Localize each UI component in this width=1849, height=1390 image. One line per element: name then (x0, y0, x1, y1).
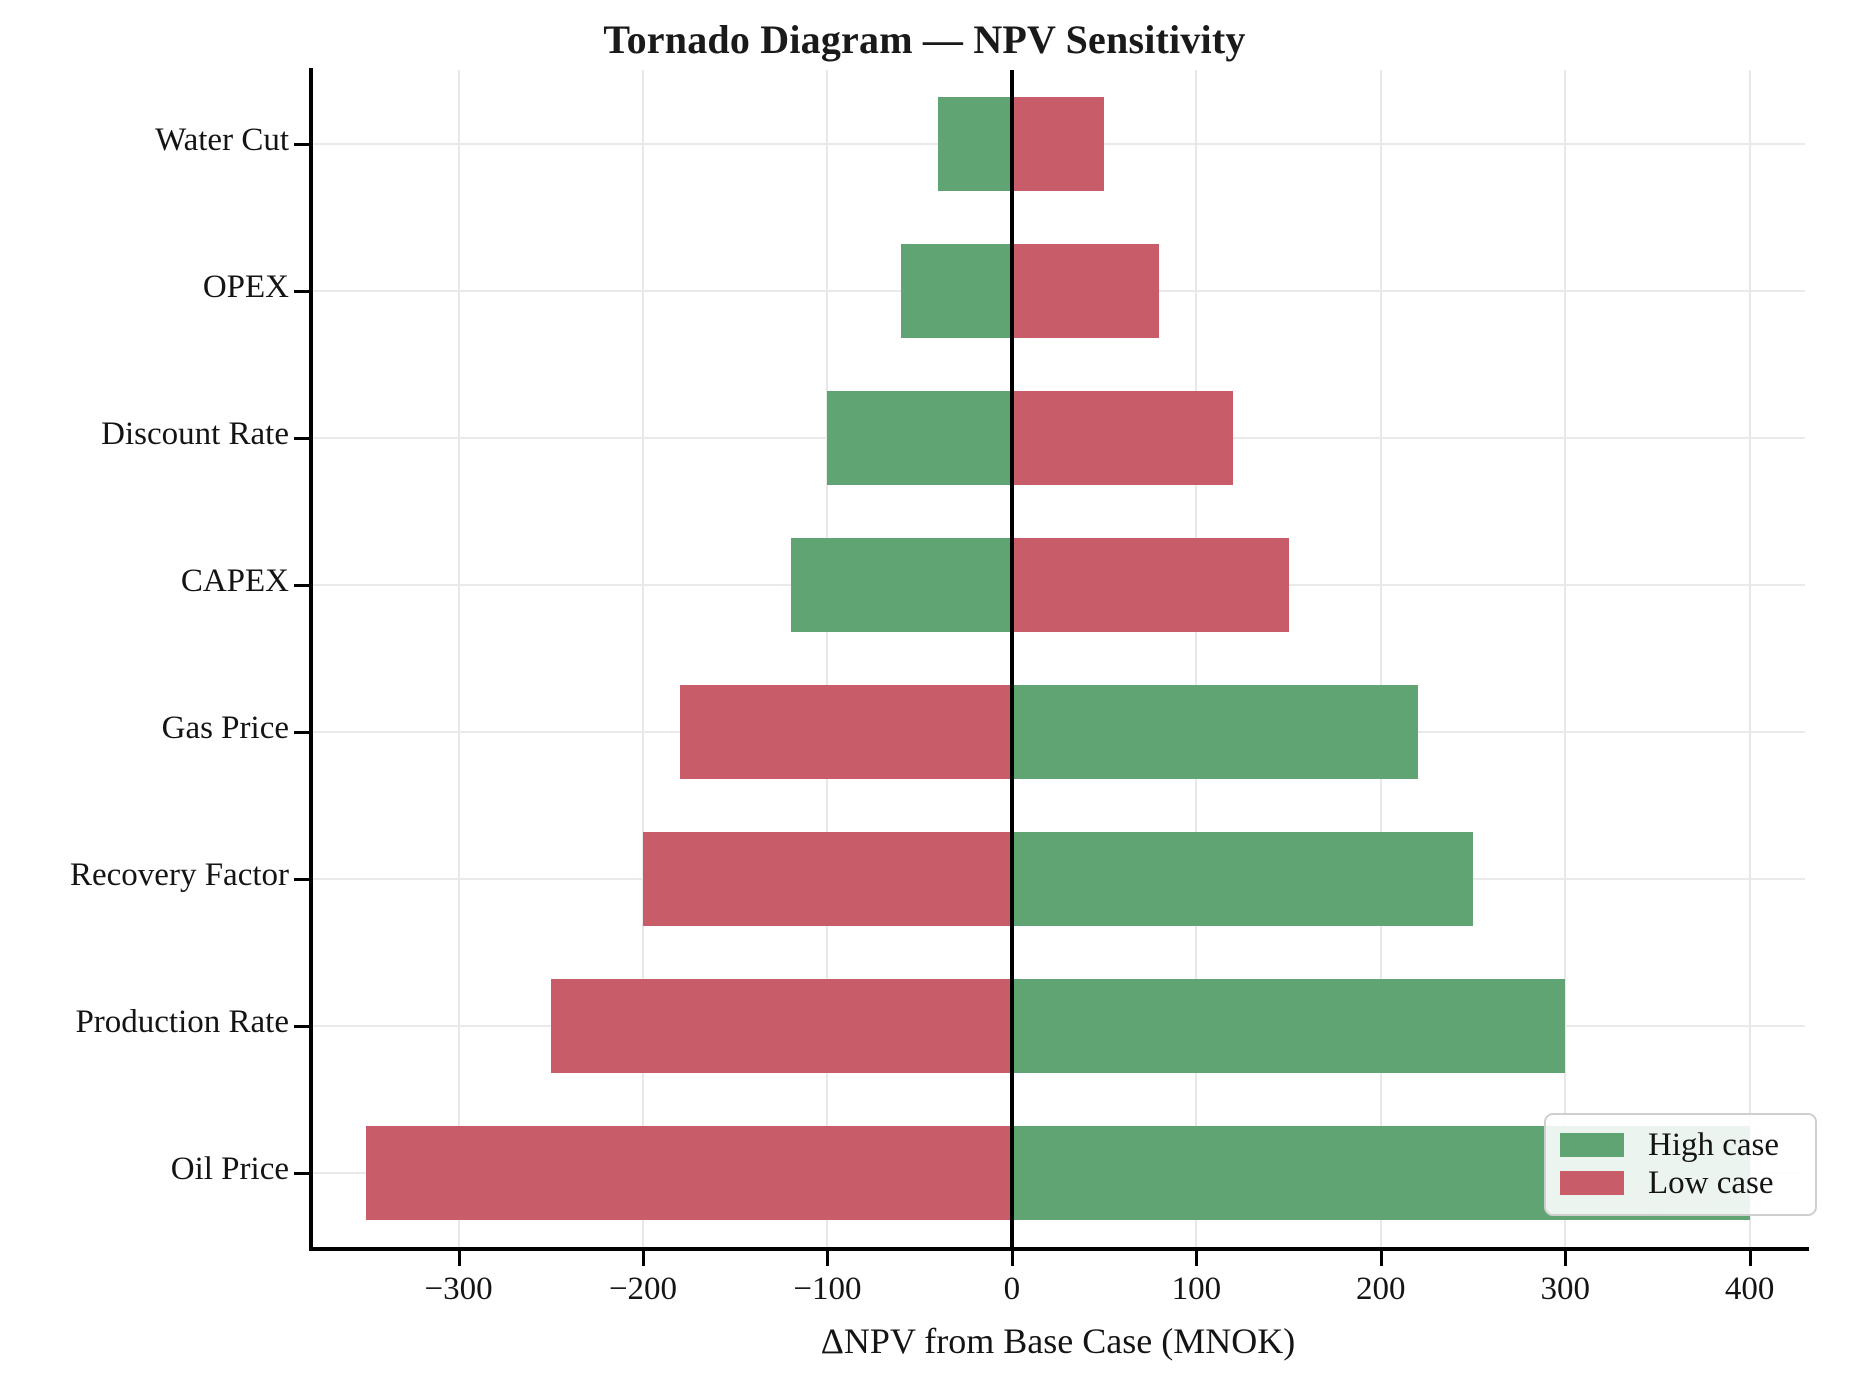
bar-low-case-water-cut[interactable] (1012, 97, 1104, 191)
y-tick-mark (294, 1172, 310, 1175)
bar-low-case-opex[interactable] (1012, 244, 1160, 338)
y-tick-mark (294, 1025, 310, 1028)
y-tick-label-opex: OPEX (203, 269, 289, 306)
legend-swatch-low-case (1560, 1171, 1624, 1195)
x-tick-mark (1011, 1251, 1014, 1266)
chart-title: Tornado Diagram — NPV Sensitivity (0, 16, 1849, 63)
x-tick-mark (1380, 1251, 1383, 1266)
legend-label-low-case: Low case (1648, 1165, 1774, 1202)
y-tick-label-oil-price: Oil Price (171, 1151, 289, 1188)
x-tick-label: 0 (932, 1271, 1092, 1308)
x-tick-mark (1564, 1251, 1567, 1266)
x-tick-label: 100 (1116, 1271, 1276, 1308)
x-tick-label: −300 (379, 1271, 539, 1308)
legend-item-low-case[interactable]: Low case (1560, 1164, 1801, 1202)
y-tick-mark (294, 731, 310, 734)
y-tick-mark (294, 878, 310, 881)
x-tick-mark (458, 1251, 461, 1266)
x-tick-mark (1195, 1251, 1198, 1266)
y-tick-label-capex: CAPEX (181, 563, 289, 600)
bar-high-case-capex[interactable] (791, 538, 1012, 632)
bar-low-case-oil-price[interactable] (366, 1126, 1012, 1220)
bar-low-case-capex[interactable] (1012, 538, 1289, 632)
gridline-vertical (458, 70, 460, 1247)
x-tick-mark (642, 1251, 645, 1266)
legend-item-high-case[interactable]: High case (1560, 1126, 1801, 1164)
y-tick-label-gas-price: Gas Price (162, 710, 289, 747)
x-tick-label: 200 (1301, 1271, 1461, 1308)
x-axis-spine (309, 1247, 1809, 1251)
y-tick-mark (294, 143, 310, 146)
chart-legend[interactable]: High case Low case (1544, 1113, 1817, 1216)
plot-area (311, 70, 1805, 1247)
tornado-chart-figure: Tornado Diagram — NPV Sensitivity −300−2… (0, 0, 1849, 1390)
bar-high-case-recovery-factor[interactable] (1012, 832, 1473, 926)
bar-low-case-gas-price[interactable] (680, 685, 1012, 779)
y-tick-label-discount-rate: Discount Rate (101, 416, 289, 453)
x-tick-label: 400 (1670, 1271, 1830, 1308)
x-axis-label: ΔNPV from Base Case (MNOK) (311, 1320, 1805, 1362)
x-tick-label: −200 (563, 1271, 723, 1308)
y-tick-label-water-cut: Water Cut (155, 122, 289, 159)
bar-high-case-production-rate[interactable] (1012, 979, 1565, 1073)
bar-high-case-water-cut[interactable] (938, 97, 1012, 191)
y-axis-spine (309, 68, 313, 1251)
bar-low-case-production-rate[interactable] (551, 979, 1012, 1073)
y-tick-label-recovery-factor: Recovery Factor (70, 857, 289, 894)
x-tick-mark (826, 1251, 829, 1266)
bar-high-case-discount-rate[interactable] (827, 391, 1011, 485)
y-tick-mark (294, 584, 310, 587)
y-tick-label-production-rate: Production Rate (75, 1004, 289, 1041)
zero-reference-line (1010, 70, 1014, 1247)
bar-low-case-discount-rate[interactable] (1012, 391, 1233, 485)
x-tick-label: 300 (1485, 1271, 1645, 1308)
legend-swatch-high-case (1560, 1133, 1624, 1157)
x-tick-mark (1749, 1251, 1752, 1266)
bar-high-case-gas-price[interactable] (1012, 685, 1418, 779)
bar-low-case-recovery-factor[interactable] (643, 832, 1012, 926)
x-tick-label: −100 (747, 1271, 907, 1308)
y-tick-mark (294, 437, 310, 440)
gridline-vertical (1749, 70, 1751, 1247)
legend-label-high-case: High case (1648, 1127, 1779, 1164)
bar-high-case-opex[interactable] (901, 244, 1012, 338)
y-tick-mark (294, 290, 310, 293)
